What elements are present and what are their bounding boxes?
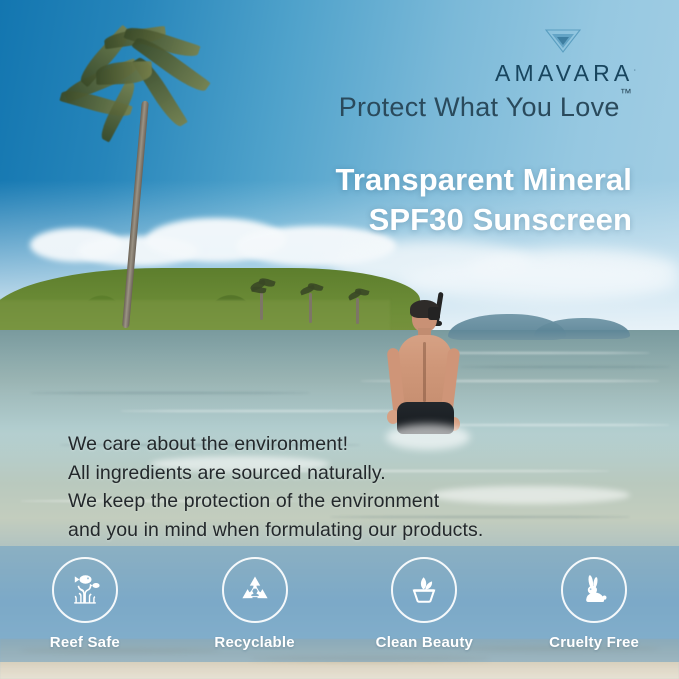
coral-fish-icon [52, 557, 118, 623]
spine-shadow [423, 342, 426, 402]
inverted-triangle-icon [544, 28, 582, 54]
tagline: Protect What You Love™ [339, 92, 632, 123]
brand-name: AMAVARA· [495, 60, 631, 87]
trademark-symbol: ™ [620, 86, 632, 100]
body-line-1: We care about the environment! [68, 430, 483, 459]
snorkeler [378, 290, 470, 440]
badge-clean-beauty: Clean Beauty [340, 557, 510, 651]
snorkel-mask [428, 307, 440, 320]
body-line-2: All ingredients are sourced naturally. [68, 459, 483, 488]
body-line-3: We keep the protection of the environmen… [68, 487, 483, 516]
badge-recyclable: Recyclable [170, 557, 340, 651]
mortar-leaf-icon [391, 557, 457, 623]
badge-label: Reef Safe [50, 634, 120, 651]
rabbit-icon [561, 557, 627, 623]
recycle-icon [222, 557, 288, 623]
product-headline: Transparent Mineral SPF30 Sunscreen [336, 160, 633, 239]
badge-label: Recyclable [214, 634, 294, 651]
brand-trademark: · [633, 65, 636, 74]
body-line-4: and you in mind when formulating our pro… [68, 516, 483, 545]
badge-label: Cruelty Free [549, 634, 639, 651]
badge-cruelty-free: Cruelty Free [509, 557, 679, 651]
headline-line-1: Transparent Mineral [336, 160, 633, 200]
headline-line-2: SPF30 Sunscreen [336, 200, 633, 240]
badge-label: Clean Beauty [376, 634, 473, 651]
badge-reef-safe: Reef Safe [0, 557, 170, 651]
certification-badge-bar: Reef Safe Recyclable [0, 546, 679, 662]
water-ripple [460, 366, 670, 368]
product-marketing-banner: AMAVARA· Protect What You Love™ Transpar… [0, 0, 679, 679]
water-ripple [30, 392, 310, 394]
brand-logo: AMAVARA· [495, 28, 631, 87]
environment-message: We care about the environment! All ingre… [68, 430, 483, 545]
